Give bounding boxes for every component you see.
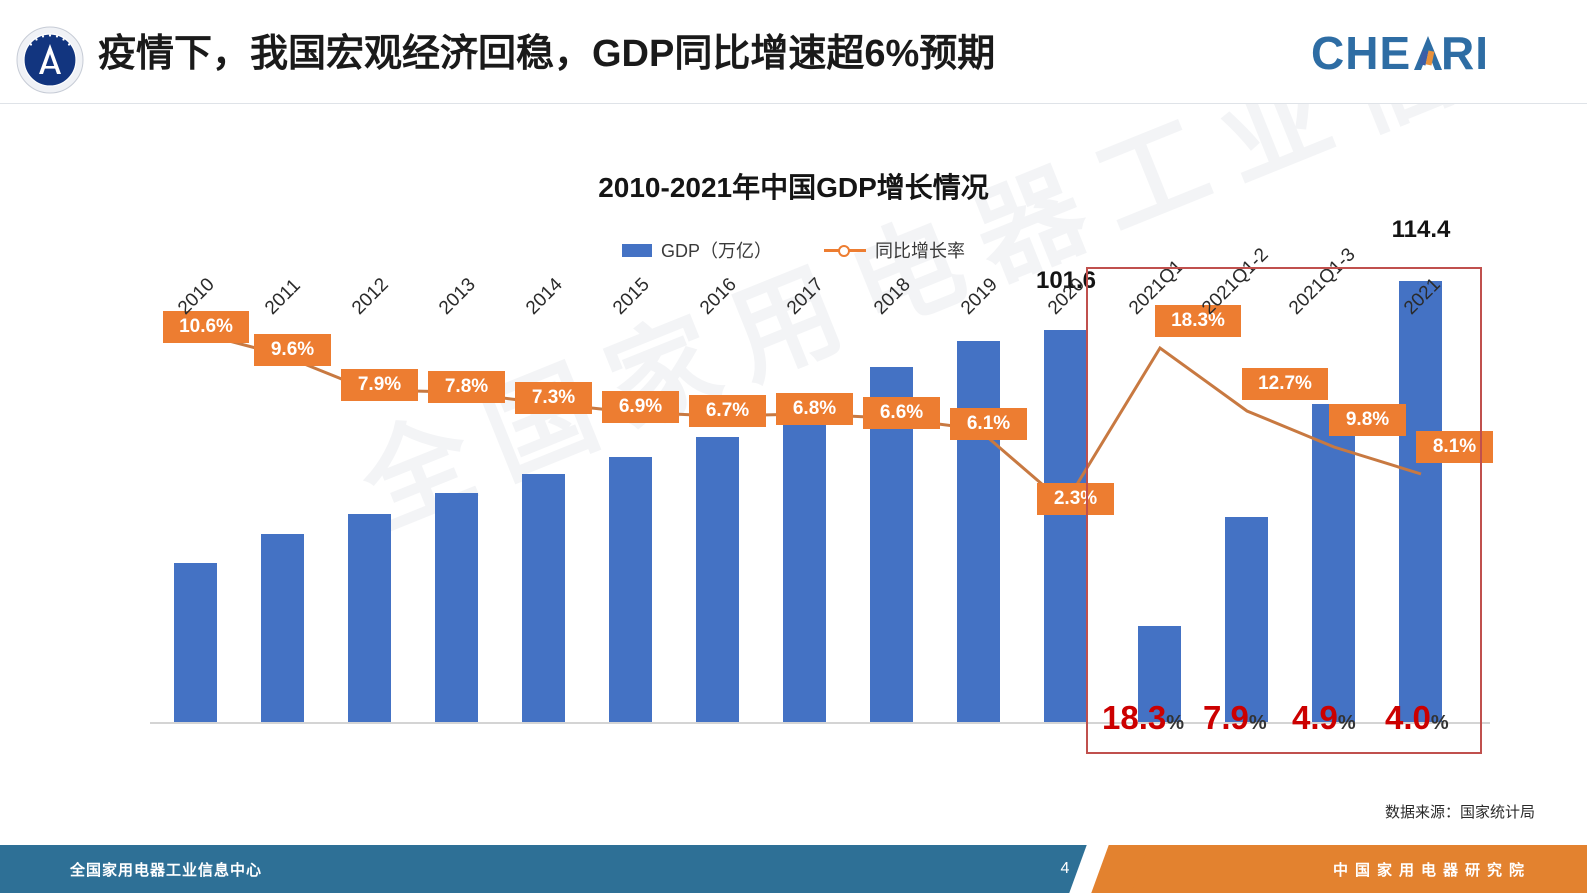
red-stat-value-0: 18.3	[1102, 699, 1166, 736]
pct-chip-2017: 6.8%	[776, 393, 853, 425]
pct-chip-2015: 6.9%	[602, 391, 679, 423]
legend-line-swatch-icon	[824, 244, 866, 257]
footer-org-name: 全国家用电器工业信息中心	[70, 859, 262, 880]
pct-chip-2014: 7.3%	[515, 382, 592, 414]
pct-chip-2021q1: 18.3%	[1155, 305, 1241, 337]
red-stat-unit-1: %	[1249, 712, 1267, 734]
footer-institute-name: 中国家用电器研究院	[1333, 859, 1531, 880]
footer-left-band: 全国家用电器工业信息中心	[0, 845, 1030, 893]
footer-right-band: 中国家用电器研究院	[1118, 845, 1587, 893]
legend-item-growth: 同比增长率	[824, 237, 965, 263]
svg-text:RI: RI	[1441, 27, 1489, 79]
slide-header: 疫情下，我国宏观经济回稳，GDP同比增速超6%预期 CHE RI	[0, 0, 1587, 104]
red-stat-value-1: 7.9	[1203, 699, 1249, 736]
growth-rate-line	[150, 284, 1490, 724]
pct-chip-2019: 6.1%	[950, 408, 1027, 440]
red-stat-unit-0: %	[1166, 712, 1184, 734]
pct-chip-2021q1-2: 12.7%	[1242, 368, 1328, 400]
pct-chip-2021q1-3: 9.8%	[1329, 404, 1406, 436]
red-stat-unit-2: %	[1338, 712, 1356, 734]
pct-chip-2018: 6.6%	[863, 397, 940, 429]
pct-chip-2021: 8.1%	[1416, 431, 1493, 463]
page-title: 疫情下，我国宏观经济回稳，GDP同比增速超6%预期	[98, 30, 995, 78]
pct-chip-2012: 7.9%	[341, 369, 418, 401]
academy-emblem-icon	[16, 26, 84, 94]
legend-item-gdp: GDP（万亿）	[622, 237, 772, 263]
legend-label-growth: 同比增长率	[875, 237, 965, 263]
red-stat-2021: 4.0%	[1385, 699, 1449, 737]
legend-label-gdp: GDP（万亿）	[661, 237, 772, 263]
pct-chip-2010: 10.6%	[163, 311, 249, 343]
pct-chip-2013: 7.8%	[428, 371, 505, 403]
bar-value-2021: 114.4	[1365, 216, 1477, 244]
chart-title: 2010-2021年中国GDP增长情况	[0, 166, 1587, 206]
red-stat-value-2: 4.9	[1292, 699, 1338, 736]
red-stat-2021q1-2: 7.9%	[1203, 699, 1267, 737]
svg-text:CHE: CHE	[1311, 27, 1411, 79]
cheari-logo-icon: CHE RI	[1311, 26, 1541, 82]
red-stat-2021q1: 18.3%	[1102, 699, 1184, 737]
red-stat-2021q1-3: 4.9%	[1292, 699, 1356, 737]
slide-footer: 全国家用电器工业信息中心 4 中国家用电器研究院	[0, 845, 1587, 893]
red-stat-unit-3: %	[1431, 712, 1449, 734]
pct-chip-2020: 2.3%	[1037, 483, 1114, 515]
chart-plot-area: 101.6 114.4 10.6% 9.6% 7.9% 7.8% 7.3% 6.…	[150, 284, 1490, 724]
source-note: 数据来源：国家统计局	[1385, 801, 1535, 822]
slide-body: 全国家用电器工业信息中心 2010-2021年中国GDP增长情况 GDP（万亿）…	[0, 104, 1587, 834]
pct-chip-2011: 9.6%	[254, 334, 331, 366]
legend-bar-swatch-icon	[622, 244, 652, 257]
red-stat-value-3: 4.0	[1385, 699, 1431, 736]
pct-chip-2016: 6.7%	[689, 395, 766, 427]
